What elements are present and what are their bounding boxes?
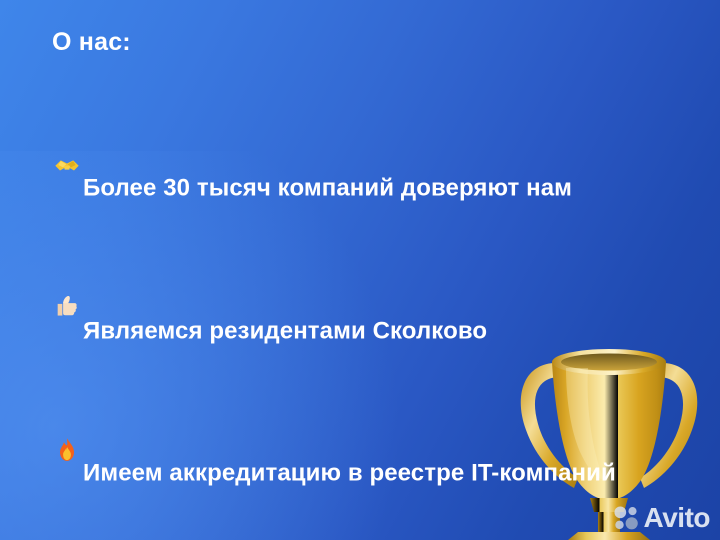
list-item: Имеем аккредитацию в реестре IT-компаний [52,374,720,489]
handshake-emoji [52,120,82,148]
avito-wordmark: Avito [644,504,710,532]
about-us-slide: О нас: Более 30 тысяч компаний доверяют … [0,0,720,540]
slide-content: О нас: Более 30 тысяч компаний доверяют … [52,28,720,540]
list-item-label: Более 30 тысяч компаний доверяют нам [83,175,572,202]
list-item-label: Являемся резидентами Сколково [83,317,487,344]
list-item: Являемся резидентами Сколково [52,232,720,347]
list-item-label: Имеем аккредитацию в реестре IT-компаний [83,460,616,487]
thumbs-up-emoji [52,263,82,291]
fire-emoji [52,405,82,433]
page-title: О нас: [52,28,720,57]
avito-logo-icon [613,505,639,531]
avito-watermark: Avito [613,504,710,532]
list-item: Более 30 тысяч компаний доверяют нам [52,90,720,205]
